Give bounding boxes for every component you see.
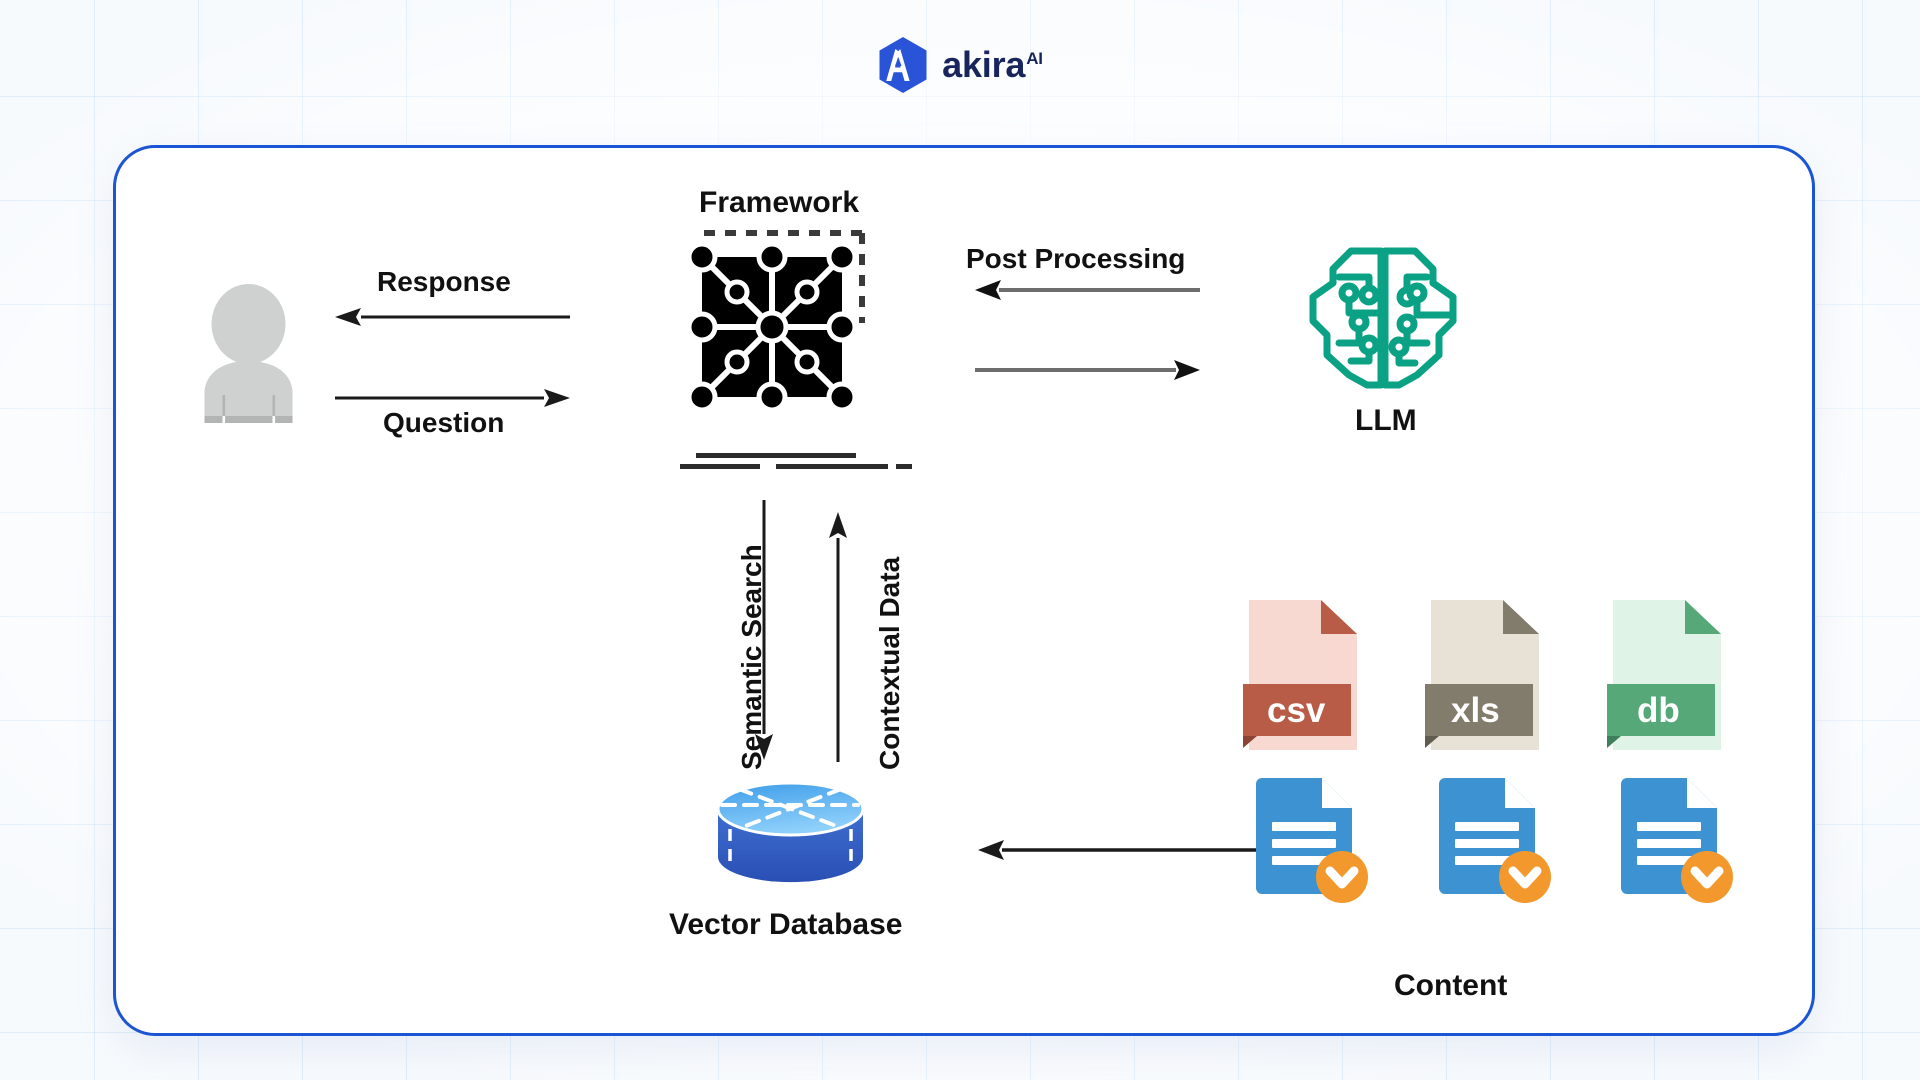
csv-file-icon: csv [1249, 600, 1357, 750]
csv-file-label: csv [1267, 691, 1326, 730]
arrow-post-processing [975, 278, 1200, 302]
db-file-label: db [1637, 691, 1680, 730]
edge-label-question: Question [383, 409, 504, 437]
edge-label-post-processing: Post Processing [966, 245, 1185, 273]
llm-label: LLM [1355, 406, 1417, 436]
framework-underline-decoration [672, 450, 912, 480]
brain-circuit-icon [1303, 243, 1463, 393]
xls-file-label: xls [1451, 691, 1500, 730]
framework-grid-icon [690, 245, 870, 425]
document-verified-icon-2 [1431, 778, 1551, 906]
arrow-response [335, 305, 570, 329]
framework-label: Framework [699, 188, 859, 218]
brand-name: akiraAI [942, 47, 1043, 83]
brand-logo: akiraAI [0, 36, 1920, 94]
arrow-semantic-search [752, 500, 776, 760]
db-file-icon: db [1613, 600, 1721, 750]
brand-superscript: AI [1026, 49, 1043, 68]
vector-database-label: Vector Database [669, 910, 902, 940]
arrow-ingest-content [978, 838, 1258, 862]
edge-label-response: Response [377, 268, 511, 296]
arrow-contextual-data [826, 512, 850, 762]
edge-label-contextual-data: Contextual Data [876, 557, 904, 770]
brand-name-text: akira [942, 44, 1025, 85]
user-avatar-icon [196, 283, 301, 423]
content-label: Content [1394, 971, 1507, 1001]
xls-file-icon: xls [1431, 600, 1539, 750]
vector-database-cylinder-icon [713, 779, 868, 889]
akira-hexagon-logo-icon [877, 36, 929, 94]
check-badge-icon [1681, 851, 1733, 903]
document-verified-icon-3 [1613, 778, 1733, 906]
check-badge-icon [1499, 851, 1551, 903]
arrow-to-llm [975, 358, 1200, 382]
diagram-card [113, 145, 1815, 1036]
document-verified-icon-1 [1248, 778, 1368, 906]
check-badge-icon [1316, 851, 1368, 903]
